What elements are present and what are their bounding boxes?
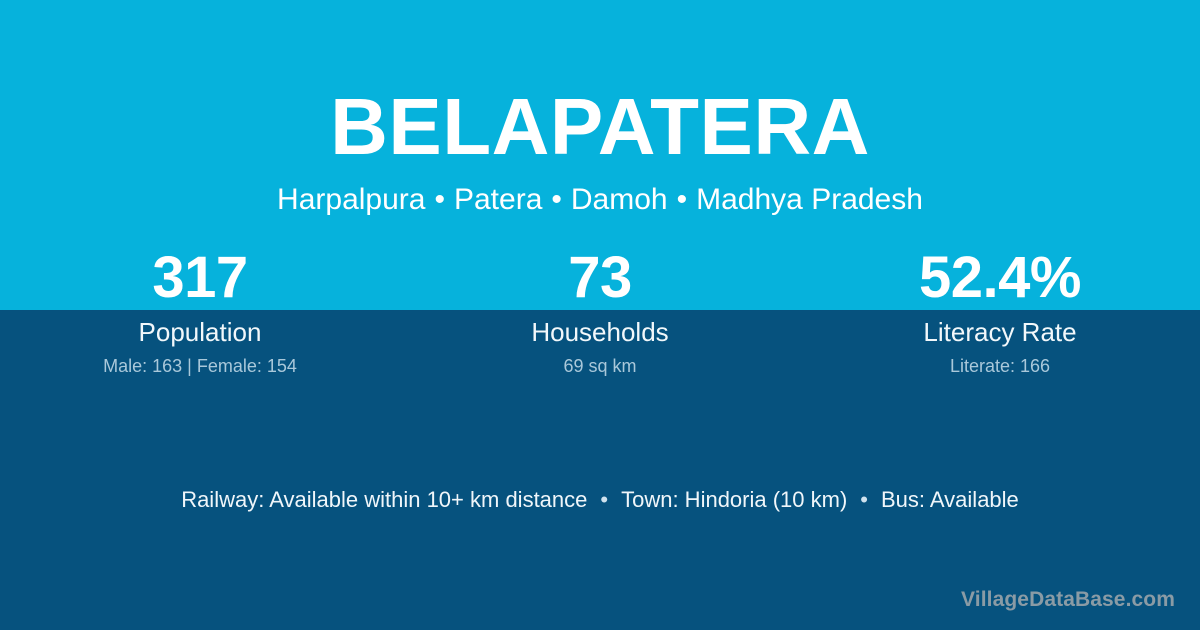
stat-value: 317 xyxy=(0,245,400,311)
breadcrumb-separator: • xyxy=(542,183,571,216)
breadcrumb: Harpalpura•Patera•Damoh•Madhya Pradesh xyxy=(0,181,1200,219)
stat-sublabel: Male: 163 | Female: 154 xyxy=(0,354,400,378)
stats-row: 317 Population Male: 163 | Female: 154 7… xyxy=(0,245,1200,378)
breadcrumb-separator: • xyxy=(668,183,697,216)
breadcrumb-separator: • xyxy=(425,183,454,216)
breadcrumb-item-state: Madhya Pradesh xyxy=(696,183,923,216)
stat-value: 52.4% xyxy=(800,245,1200,311)
site-brand: VillageDataBase.com xyxy=(961,587,1175,613)
stat-sublabel: 69 sq km xyxy=(400,354,800,378)
facility-bus: Bus: Available xyxy=(881,487,1019,512)
stat-label: Population xyxy=(0,316,400,348)
stat-literacy-rate: 52.4% Literacy Rate Literate: 166 xyxy=(800,245,1200,378)
stat-households: 73 Households 69 sq km xyxy=(400,245,800,378)
facility-separator: • xyxy=(847,487,881,512)
breadcrumb-item-block: Patera xyxy=(454,183,542,216)
stat-label: Literacy Rate xyxy=(800,316,1200,348)
village-info-card: BELAPATERA Harpalpura•Patera•Damoh•Madhy… xyxy=(0,0,1200,630)
breadcrumb-item-village: Harpalpura xyxy=(277,183,425,216)
stat-label: Households xyxy=(400,316,800,348)
page-title: BELAPATERA xyxy=(0,79,1200,175)
facility-railway: Railway: Available within 10+ km distanc… xyxy=(181,487,587,512)
facility-town: Town: Hindoria (10 km) xyxy=(621,487,847,512)
stat-value: 73 xyxy=(400,245,800,311)
breadcrumb-item-district: Damoh xyxy=(571,183,668,216)
stat-sublabel: Literate: 166 xyxy=(800,354,1200,378)
stat-population: 317 Population Male: 163 | Female: 154 xyxy=(0,245,400,378)
facility-separator: • xyxy=(587,487,621,512)
facilities-line: Railway: Available within 10+ km distanc… xyxy=(0,483,1200,517)
